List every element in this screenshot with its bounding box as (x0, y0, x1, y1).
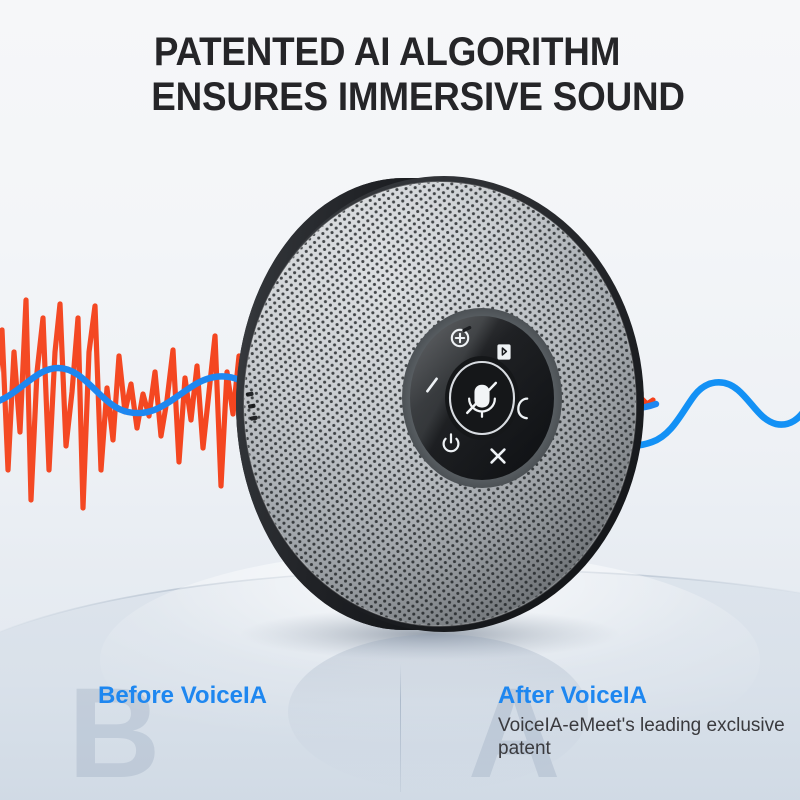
before-title: Before VoiceIA (98, 682, 267, 710)
after-title: After VoiceIA (498, 682, 647, 710)
product-marketing-banner: PATENTED AI ALGORITHM ENSURES IMMERSIVE … (0, 0, 800, 800)
comparison-column-after: A After VoiceIA VoiceIA-eMeet's leading … (400, 660, 800, 800)
comparison-column-before: B Before VoiceIA (0, 660, 400, 800)
comparison-bar: B Before VoiceIA A After VoiceIA VoiceIA… (0, 660, 800, 800)
after-subtitle: VoiceIA-eMeet's leading exclusive patent (498, 714, 788, 760)
